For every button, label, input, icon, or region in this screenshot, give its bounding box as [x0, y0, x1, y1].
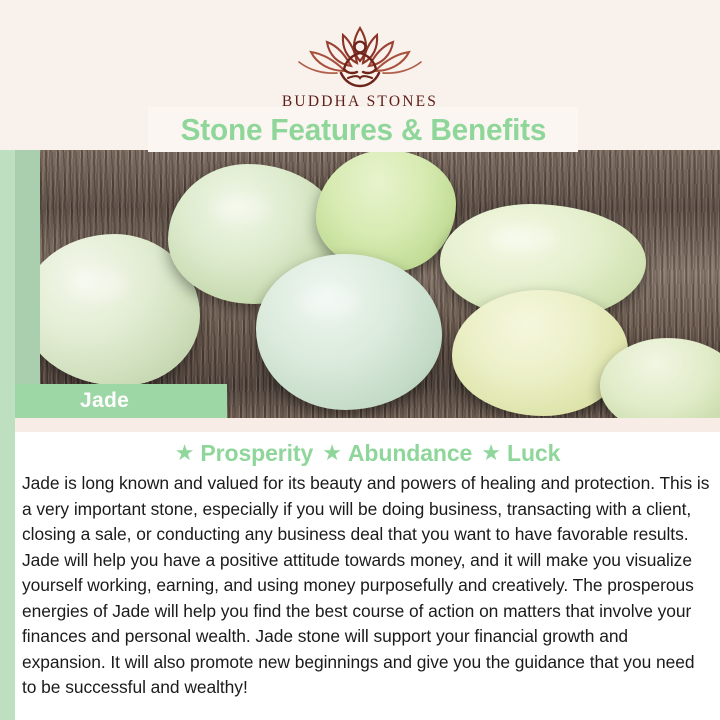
- stone-5-sheen: [490, 226, 556, 252]
- star-icon: ★: [322, 442, 342, 464]
- title-banner: Stone Features & Benefits: [148, 107, 578, 152]
- star-icon: ★: [175, 442, 195, 464]
- stone-2-sheen: [212, 194, 268, 224]
- page-title: Stone Features & Benefits: [180, 112, 546, 148]
- stone-1-sheen: [70, 268, 128, 302]
- content-panel: ★ Prosperity ★ Abundance ★ Luck Jade is …: [15, 432, 720, 720]
- stone-4: [256, 254, 442, 410]
- lotus-meditation-icon: [285, 16, 435, 91]
- benefits-row: ★ Prosperity ★ Abundance ★ Luck: [15, 432, 720, 470]
- benefit-label: Abundance: [348, 440, 472, 467]
- benefit-label: Prosperity: [200, 440, 313, 467]
- stone-name-band: Jade: [15, 384, 227, 418]
- stone-features-infographic: BUDDHA STONES Stone Features & Benefits …: [0, 0, 720, 720]
- benefit-item: ★ Prosperity: [175, 440, 314, 467]
- cream-divider: [15, 418, 720, 432]
- benefit-label: Luck: [507, 440, 560, 467]
- star-icon: ★: [481, 442, 501, 464]
- benefit-item: ★ Abundance: [322, 440, 472, 467]
- benefit-item: ★ Luck: [481, 440, 560, 467]
- stone-photo: [0, 150, 720, 418]
- stone-4-sheen: [300, 286, 358, 318]
- brand-logo: BUDDHA STONES: [0, 16, 720, 111]
- stone-name-label: Jade: [80, 389, 129, 413]
- stone-description: Jade is long known and valued for its be…: [22, 471, 710, 701]
- green-frame-left: [0, 150, 15, 720]
